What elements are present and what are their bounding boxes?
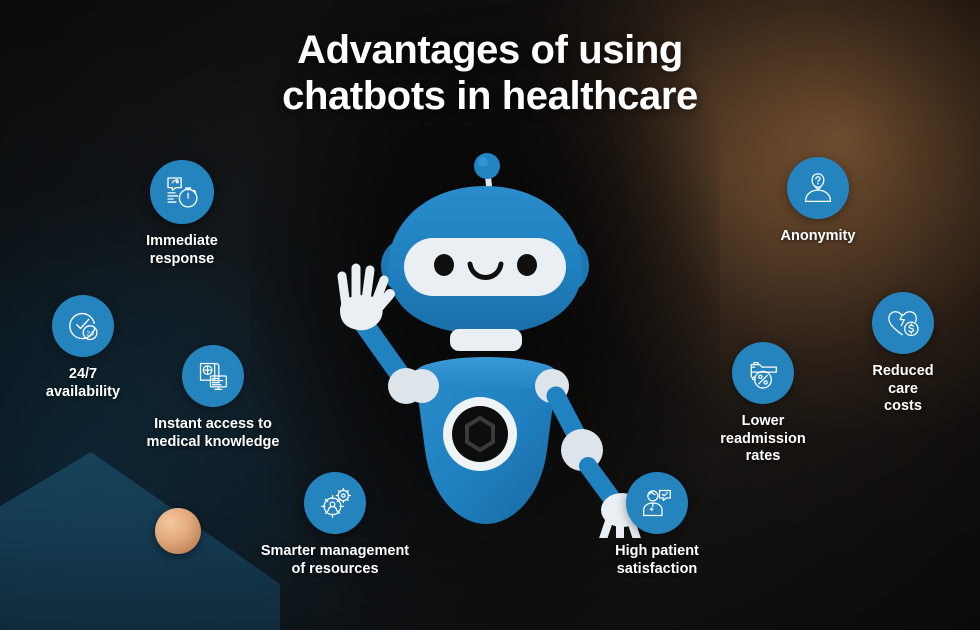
- robot-left-eye: [434, 254, 454, 276]
- robot-left-shoulder-joint: [405, 369, 439, 403]
- feature-anonymity[interactable]: Anonymity: [766, 157, 870, 246]
- robot-left-hand-waving: [340, 268, 390, 330]
- badge-smarter-resource-management[interactable]: [304, 472, 366, 534]
- chat-stopwatch-icon: [161, 171, 203, 213]
- feature-smarter-resource-management[interactable]: Smarter management of resources: [240, 472, 430, 578]
- robot-face-panel: [404, 238, 566, 296]
- badge-anonymity[interactable]: [787, 157, 849, 219]
- badge-instant-medical-knowledge[interactable]: [182, 345, 244, 407]
- hospital-bed-percent-icon: [743, 353, 783, 393]
- feature-lower-readmission-rates[interactable]: Lower readmission rates: [703, 342, 823, 466]
- badge-availability-24-7[interactable]: 24: [52, 295, 114, 357]
- badge-lower-readmission-rates[interactable]: [732, 342, 794, 404]
- feature-label: High patient satisfaction: [615, 543, 699, 578]
- feature-reduced-care-costs[interactable]: Reduced care costs: [848, 292, 958, 416]
- clock-24-icon: 24: [63, 306, 103, 346]
- feature-instant-medical-knowledge[interactable]: Instant access to medical knowledge: [128, 345, 298, 451]
- book-monitor-icon: [193, 356, 233, 396]
- badge-immediate-response[interactable]: [150, 160, 214, 224]
- robot-right-eye: [517, 254, 537, 276]
- decorative-sphere: [155, 508, 201, 554]
- feature-label: Immediate response: [146, 233, 218, 268]
- heart-dollar-icon: [883, 303, 923, 343]
- feature-label: Smarter management of resources: [261, 543, 409, 578]
- feature-availability-24-7[interactable]: 24 24/7 availability: [28, 295, 138, 401]
- patient-feedback-icon: [637, 483, 677, 523]
- feature-label: Anonymity: [781, 228, 856, 246]
- feature-label: Instant access to medical knowledge: [147, 416, 280, 451]
- badge-high-patient-satisfaction[interactable]: [626, 472, 688, 534]
- anonymous-user-icon: [798, 168, 838, 208]
- page-title: Advantages of using chatbots in healthca…: [0, 28, 980, 119]
- infographic-canvas: Advantages of using chatbots in healthca…: [0, 0, 980, 630]
- feature-immediate-response[interactable]: Immediate response: [122, 160, 242, 268]
- svg-text:24: 24: [86, 330, 94, 337]
- gears-person-icon: [315, 483, 355, 523]
- badge-reduced-care-costs[interactable]: [872, 292, 934, 354]
- robot-chest-core: [443, 397, 517, 471]
- robot-neck-collar: [450, 329, 522, 351]
- feature-label: 24/7 availability: [46, 366, 120, 401]
- feature-label: Lower readmission rates: [720, 413, 805, 466]
- feature-label: Reduced care costs: [872, 363, 933, 416]
- feature-high-patient-satisfaction[interactable]: High patient satisfaction: [592, 472, 722, 578]
